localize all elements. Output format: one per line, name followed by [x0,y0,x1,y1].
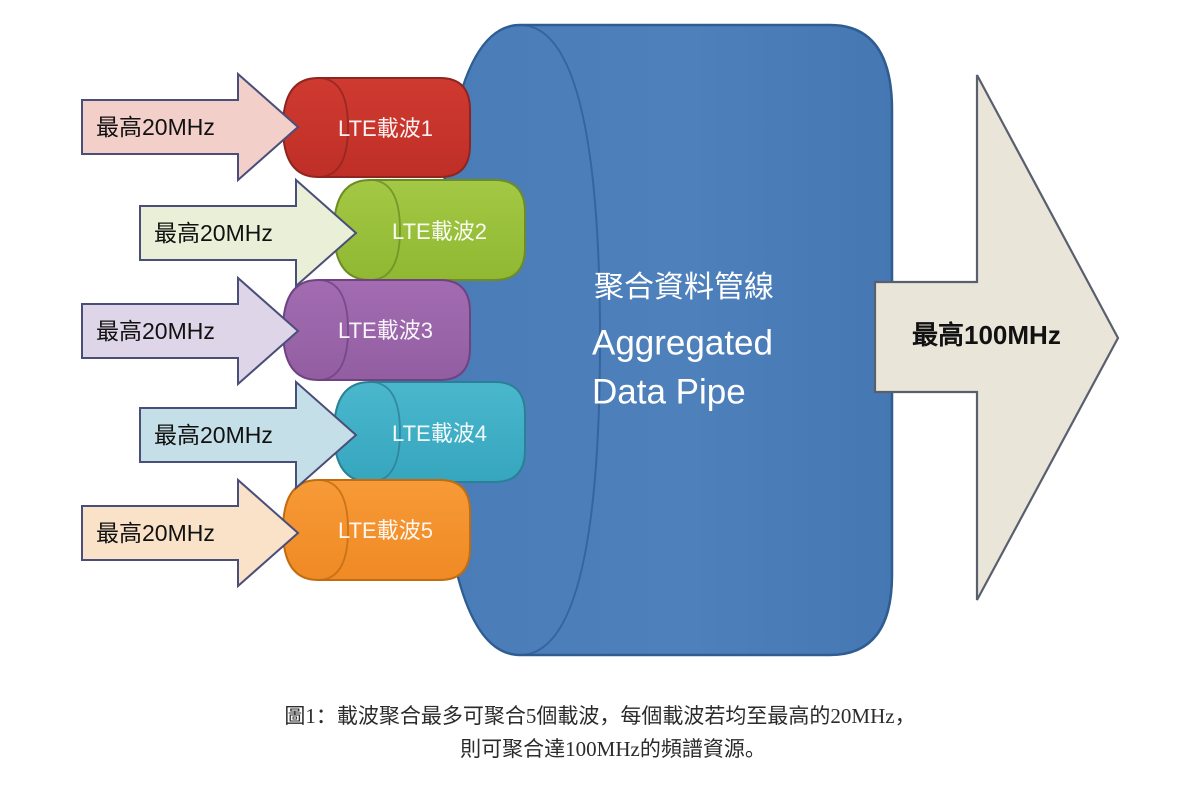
carrier-cylinder-3[interactable]: LTE載波3 [283,280,470,380]
figure-caption: 圖1：載波聚合最多可聚合5個載波，每個載波若均至最高的20MHz， 則可聚合達1… [0,700,1200,765]
figure-caption-line-1: 圖1：載波聚合最多可聚合5個載波，每個載波若均至最高的20MHz， [0,700,1200,733]
carrier-2-label: LTE載波2 [392,219,487,244]
input-arrow-1[interactable]: 最高20MHz [82,74,298,180]
input-arrow-3[interactable]: 最高20MHz [82,278,298,384]
figure-caption-line-2: 則可聚合達100MHz的頻譜資源。 [0,733,1200,766]
pipe-title-en-line1: Aggregated [592,323,773,362]
input-arrow-3-label: 最高20MHz [96,318,215,344]
carrier-cylinder-2[interactable]: LTE載波2 [334,180,525,280]
output-arrow-label: 最高100MHz [912,320,1061,350]
carrier-cylinder-1[interactable]: LTE載波1 [283,78,470,177]
carrier-cylinder-5[interactable]: LTE載波5 [283,480,470,580]
carrier-4-label: LTE載波4 [392,421,487,446]
input-arrow-5[interactable]: 最高20MHz [82,480,298,586]
carrier-5-label: LTE載波5 [338,518,433,543]
carrier-3-label: LTE載波3 [338,318,433,343]
carrier-1-label: LTE載波1 [338,116,433,141]
diagram-canvas: LTE載波1 LTE載波2 LTE載波3 LTE載波4 LTE載波5 [0,0,1200,800]
input-arrow-4[interactable]: 最高20MHz [140,382,356,488]
input-arrow-2[interactable]: 最高20MHz [140,180,356,286]
input-arrow-1-label: 最高20MHz [96,114,215,140]
output-arrow[interactable]: 最高100MHz [875,75,1118,600]
input-arrow-4-label: 最高20MHz [154,422,273,448]
input-arrow-2-label: 最高20MHz [154,220,273,246]
pipe-title-en-line2: Data Pipe [592,372,746,411]
pipe-title-cn: 聚合資料管線 [594,271,774,304]
carrier-aggregation-diagram: LTE載波1 LTE載波2 LTE載波3 LTE載波4 LTE載波5 [0,0,1200,800]
input-arrow-5-label: 最高20MHz [96,520,215,546]
carrier-cylinder-4[interactable]: LTE載波4 [334,382,525,482]
